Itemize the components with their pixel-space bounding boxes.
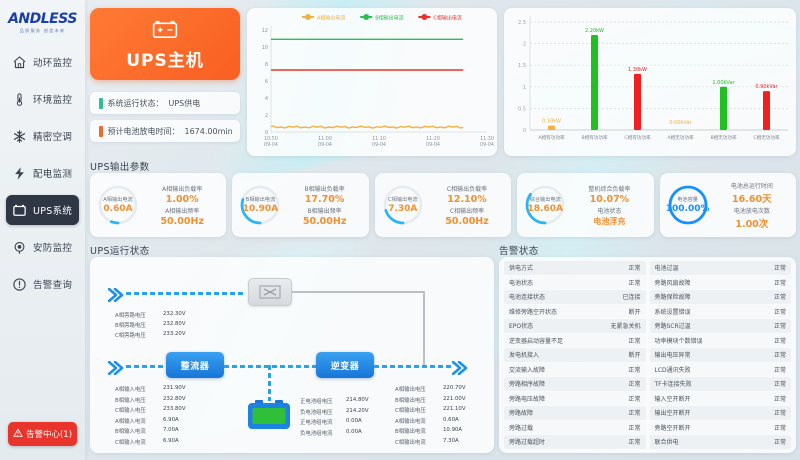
- input-label: A相输入电流: [115, 417, 146, 425]
- alarm-row: 逆变器启动容量不足正常: [504, 334, 646, 348]
- gauge-value: 0.60A: [103, 204, 132, 214]
- battery-label: 正电池组电流: [300, 418, 332, 426]
- discharge-color-bar: [99, 126, 103, 137]
- brand-tagline: 品质服务 创造未来: [20, 28, 66, 34]
- output-parameters-title: UPS输出参数: [90, 159, 796, 173]
- alarm-value: 已连接: [622, 292, 640, 301]
- alarm-name: 旁路过载超时: [509, 437, 628, 446]
- battery-value: 214.20V: [346, 408, 369, 414]
- alarm-column-left: 供电方式正常电池状态正常电池连接状态已连接维修旁路空开状态断开EPO状态无紧急关…: [504, 261, 646, 449]
- svg-text:11:10: 11:10: [372, 136, 386, 142]
- alarm-name: 交流输入故障: [509, 365, 628, 374]
- alarm-value: 断开: [628, 350, 640, 359]
- thermometer-icon: [12, 92, 27, 107]
- brand-logo: ANDLESS 品质服务 创造未来: [0, 0, 85, 40]
- alarm-name: 联合供电: [655, 437, 774, 446]
- ups-battery-icon: [152, 18, 178, 44]
- gauge-value: 10.90A: [243, 204, 278, 214]
- gauge-value: 7.30A: [388, 204, 417, 214]
- alarm-name: 旁路保险故障: [655, 292, 774, 301]
- alarm-value: 正常: [774, 307, 786, 316]
- alarm-name: 功率模块个数错误: [655, 336, 774, 345]
- svg-text:0.5: 0.5: [518, 106, 526, 112]
- run-status-section: UPS运行状态 A相旁路电压232.30VB相旁路电压232.80VC相旁路电压…: [90, 243, 494, 453]
- bypass-value: 232.80V: [163, 321, 186, 327]
- battery-value: 214.80V: [346, 397, 369, 403]
- alarm-row: 旁路SCR过温正常: [650, 319, 792, 333]
- alarm-value: 无紧急关机: [610, 321, 640, 330]
- bypass-label: C相旁路电压: [115, 331, 146, 339]
- battery-label: 负电池组电流: [300, 429, 332, 437]
- gauge-value: 100.00%: [666, 204, 710, 214]
- alarm-row: 联合供电正常: [650, 435, 792, 449]
- alarm-status-title: 告警状态: [499, 243, 796, 257]
- alarm-row: 供电方式正常: [504, 261, 646, 275]
- sidebar-item-2[interactable]: 环境监控: [6, 84, 79, 114]
- sidebar: ANDLESS 品质服务 创造未来 动环监控环境监控精密空调配电监测UPS系统安…: [0, 0, 85, 460]
- alarm-value: 正常: [774, 423, 786, 432]
- alarm-value: 正常: [774, 263, 786, 272]
- alarm-name: 输出电压异常: [655, 350, 774, 359]
- svg-text:09-04: 09-04: [318, 142, 332, 148]
- snowflake-icon: [12, 129, 27, 144]
- alarm-row: 电池连接状态已连接: [504, 290, 646, 304]
- run-status-diagram: A相旁路电压232.30VB相旁路电压232.80VC相旁路电压233.20V整…: [90, 257, 494, 453]
- battery-label: 负电池组电压: [300, 408, 332, 416]
- output-label: B相输出电压: [395, 396, 426, 404]
- metric-label: A相输出负载率: [162, 184, 202, 193]
- alarm-row: 旁路电压故障正常: [504, 392, 646, 406]
- metric-label: 整机综合负载率: [588, 184, 630, 193]
- output-value: 220.70V: [443, 385, 466, 391]
- svg-text:1.5: 1.5: [518, 63, 526, 69]
- alarm-value: 正常: [774, 394, 786, 403]
- alarm-name: 供电方式: [509, 263, 628, 272]
- svg-text:0: 0: [523, 128, 526, 134]
- card-values: 电池总运行时间16.60天电池放电次数1.00次: [714, 181, 790, 230]
- svg-text:C相无功功率: C相无功功率: [753, 134, 780, 141]
- bypass-value: 233.20V: [163, 331, 186, 337]
- sidebar-item-label: 环境监控: [33, 92, 72, 106]
- svg-text:1: 1: [523, 85, 526, 91]
- alarm-name: LCD通讯失败: [655, 365, 774, 374]
- alarm-center-label: 告警中心(1): [26, 428, 72, 440]
- power-bar-chart: 00.511.522.50.10kWA相有功功率2.20kWB相有功功率1.30…: [504, 8, 796, 156]
- system-status-value: UPS供电: [169, 98, 201, 109]
- alarm-name: 系统设置错误: [655, 307, 774, 316]
- alarm-name: 旁路空开断开: [655, 423, 774, 432]
- output-value: 10.90A: [443, 427, 462, 433]
- output-label: A相输出电流: [395, 417, 426, 425]
- alarm-value: 正常: [774, 278, 786, 287]
- svg-text:6: 6: [265, 79, 268, 85]
- alarm-row: 旁路保险故障正常: [650, 290, 792, 304]
- bypass-switch-icon: [248, 278, 292, 306]
- warning-triangle-icon: [13, 428, 23, 441]
- brand-name: ANDLESS: [8, 12, 77, 26]
- svg-text:8: 8: [265, 62, 268, 68]
- svg-text:10: 10: [262, 45, 268, 51]
- svg-text:A相输出电流: A相输出电流: [317, 15, 345, 22]
- svg-text:09-04: 09-04: [264, 142, 278, 148]
- alarm-name: 电池状态: [509, 278, 628, 287]
- alarm-value: 正常: [628, 394, 640, 403]
- battery-icon: [12, 203, 27, 218]
- output-label: A相输出电压: [395, 385, 426, 393]
- alarm-row: 旁路空开断开正常: [650, 421, 792, 435]
- sidebar-item-label: 动环监控: [33, 55, 72, 69]
- metric-label: B相输出频率: [308, 206, 342, 215]
- output-value: 221.00V: [443, 396, 466, 402]
- alarm-row: 维修旁路空开状态断开: [504, 305, 646, 319]
- alarm-row: 旁路过载超时正常: [504, 435, 646, 449]
- alarm-value: 正常: [774, 350, 786, 359]
- alarm-value: 断开: [628, 307, 640, 316]
- alarm-row: 电池状态正常: [504, 276, 646, 290]
- svg-text:0.00kVar: 0.00kVar: [669, 120, 692, 126]
- alarm-name: 逆变器启动容量不足: [509, 336, 628, 345]
- alarm-value: 正常: [628, 278, 640, 287]
- sidebar-item-label: 配电监测: [33, 166, 72, 180]
- sidebar-item-1[interactable]: 动环监控: [6, 47, 79, 77]
- svg-text:11:30: 11:30: [480, 136, 494, 142]
- alarm-column-right: 电池过温正常旁路风扇故障正常旁路保险故障正常系统设置错误正常旁路SCR过温正常功…: [650, 261, 792, 449]
- bypass-gray-line-h: [292, 291, 425, 293]
- svg-text:A相无功功率: A相无功功率: [667, 134, 694, 141]
- metric-value: 电池浮充: [593, 216, 625, 227]
- bypass-value: 232.30V: [163, 311, 186, 317]
- svg-text:B相有功功率: B相有功功率: [581, 134, 608, 141]
- alarm-name: 旁路过载: [509, 423, 628, 432]
- input-value: 6.90A: [163, 438, 179, 444]
- alarm-value: 正常: [774, 292, 786, 301]
- gauge-label: B相输出电流: [246, 196, 276, 203]
- input-value: 232.80V: [163, 396, 186, 402]
- output-value: 0.60A: [443, 417, 459, 423]
- alarm-value: 正常: [774, 365, 786, 374]
- inverter-block: 逆变器: [316, 352, 374, 378]
- metric-value: 50.00Hz: [303, 216, 347, 227]
- battery-discharge-label: 预计电池放电时间：: [108, 126, 180, 137]
- alarm-name: 维修旁路空开状态: [509, 307, 628, 316]
- alarm-name: 旁路SCR过温: [655, 321, 774, 330]
- status-color-bar: [99, 98, 103, 109]
- input-arrow: [108, 360, 124, 379]
- alarm-value: 正常: [628, 263, 640, 272]
- alarm-row: 旁路相序故障正常: [504, 377, 646, 391]
- alarm-name: 输出空开断开: [655, 408, 774, 417]
- output-card-2: B相输出电流10.90AB相输出负载率17.70%B相输出频率50.00Hz: [232, 173, 368, 237]
- metric-value: 16.60天: [732, 191, 772, 205]
- rectifier-block: 整流器: [166, 352, 224, 378]
- gauge-label: C相输出电流: [388, 196, 418, 203]
- battery-dotted-line: [268, 365, 271, 401]
- alarm-value: 正常: [628, 336, 640, 345]
- output-card-5: 电池容量100.00%电池总运行时间16.60天电池放电次数1.00次: [660, 173, 796, 237]
- system-status-pill: 系统运行状态： UPS供电: [90, 92, 240, 114]
- metric-value: 17.70%: [305, 194, 345, 205]
- output-label: B相输出电流: [395, 427, 426, 435]
- bypass-dotted-line: [126, 292, 246, 295]
- svg-text:09-04: 09-04: [372, 142, 386, 148]
- svg-text:2.5: 2.5: [518, 20, 526, 26]
- sidebar-item-label: 告警查询: [33, 277, 72, 291]
- svg-text:0: 0: [265, 130, 268, 136]
- svg-text:10:50: 10:50: [264, 136, 278, 142]
- output-label: C相输出电压: [395, 406, 426, 414]
- metric-label: C相输出频率: [450, 206, 484, 215]
- alert-circle-icon: [12, 277, 27, 292]
- gauge-ring: A相输出电流0.60A: [96, 183, 140, 227]
- output-arrow: [452, 360, 468, 379]
- alarm-row: 输出电压异常正常: [650, 348, 792, 362]
- input-value: 233.80V: [163, 406, 186, 412]
- run-status-title: UPS运行状态: [90, 243, 494, 257]
- metric-value: 10.07%: [590, 194, 630, 205]
- svg-text:C相有功功率: C相有功功率: [624, 134, 651, 141]
- sidebar-item-6[interactable]: 安防监控: [6, 232, 79, 262]
- svg-text:1.30kW: 1.30kW: [628, 67, 647, 73]
- sidebar-item-label: 安防监控: [33, 240, 72, 254]
- card-values: B相输出负载率17.70%B相输出频率50.00Hz: [286, 184, 362, 227]
- card-values: A相输出负载率1.00%A相输出频率50.00Hz: [144, 184, 220, 227]
- svg-text:09-04: 09-04: [480, 142, 494, 148]
- svg-text:11:00: 11:00: [318, 136, 332, 142]
- gauge-label: A相输出电流: [103, 196, 133, 203]
- svg-text:0.90kVar: 0.90kVar: [755, 84, 778, 90]
- svg-text:2: 2: [523, 42, 526, 48]
- battery-discharge-value: 1674.00min: [185, 127, 233, 136]
- input-label: B相输入电流: [115, 427, 146, 435]
- sidebar-item-5[interactable]: UPS系统: [6, 195, 79, 225]
- sidebar-item-4[interactable]: 配电监测: [6, 158, 79, 188]
- alarm-name: 发电机接入: [509, 350, 628, 359]
- svg-text:B相无功功率: B相无功功率: [710, 134, 737, 141]
- output-parameters-section: UPS输出参数 A相输出电流0.60AA相输出负载率1.00%A相输出频率50.…: [90, 159, 796, 237]
- home-icon: [12, 55, 27, 70]
- sidebar-item-3[interactable]: 精密空调: [6, 121, 79, 151]
- alarm-name: 电池过温: [655, 263, 774, 272]
- input-label: C相输入电压: [115, 406, 146, 414]
- battery-value: 0.00A: [346, 418, 362, 424]
- card-values: C相输出负载率12.10%C相输出频率50.00Hz: [429, 184, 505, 227]
- output-label: C相输出电流: [395, 438, 426, 446]
- alarm-name: 电池连接状态: [509, 292, 622, 301]
- ups-host-tile[interactable]: UPS主机: [90, 8, 240, 80]
- input-value: 231.90V: [163, 385, 186, 391]
- svg-text:2.20kW: 2.20kW: [585, 28, 604, 34]
- alarm-value: 正常: [774, 336, 786, 345]
- metric-label: 电池放电次数: [734, 206, 770, 215]
- gauge-ring: 综合输出电流18.60A: [523, 183, 567, 227]
- bypass-input-arrow: [108, 287, 124, 306]
- bypass-gray-line-v: [423, 291, 425, 366]
- output-parameter-cards: A相输出电流0.60AA相输出负载率1.00%A相输出频率50.00HzB相输出…: [90, 173, 796, 237]
- metric-label: B相输出负载率: [305, 184, 345, 193]
- output-card-3: C相输出电流7.30AC相输出负载率12.10%C相输出频率50.00Hz: [375, 173, 511, 237]
- gauge-label: 综合输出电流: [530, 196, 561, 203]
- alarm-row: LCD通讯失败正常: [650, 363, 792, 377]
- input-value: 7.00A: [163, 427, 179, 433]
- input-dotted-line: [126, 365, 166, 368]
- input-label: A相输入电压: [115, 385, 146, 393]
- svg-text:1.00kVar: 1.00kVar: [712, 80, 735, 86]
- alarm-value: 正常: [774, 379, 786, 388]
- output-value: 221.10V: [443, 406, 466, 412]
- alarm-row: EPO状态无紧急关机: [504, 319, 646, 333]
- alarm-name: 输入空开断开: [655, 394, 774, 403]
- alarm-value: 正常: [774, 408, 786, 417]
- alarm-value: 正常: [628, 423, 640, 432]
- sidebar-item-label: UPS系统: [33, 203, 72, 217]
- metric-value: 1.00次: [735, 216, 768, 230]
- alarm-row: TF卡连接失败正常: [650, 377, 792, 391]
- metric-value: 12.10%: [447, 194, 487, 205]
- output-value: 7.30A: [443, 438, 459, 444]
- alarm-row: 旁路过载正常: [504, 421, 646, 435]
- svg-text:09-04: 09-04: [426, 142, 440, 148]
- alarm-name: EPO状态: [509, 321, 610, 330]
- gauge-label: 电池容量: [677, 196, 698, 203]
- alarm-value: 正常: [628, 408, 640, 417]
- input-label: B相输入电压: [115, 396, 146, 404]
- metric-value: 50.00Hz: [160, 216, 204, 227]
- gauge-ring: 电池容量100.00%: [666, 183, 710, 227]
- svg-text:C相输出电流: C相输出电流: [433, 15, 462, 22]
- alarm-value: 正常: [774, 321, 786, 330]
- alarm-value: 正常: [628, 365, 640, 374]
- output-dotted-line: [374, 365, 452, 368]
- alarm-name: 旁路相序故障: [509, 379, 628, 388]
- svg-text:11:20: 11:20: [426, 136, 440, 142]
- alarm-row: 电池过温正常: [650, 261, 792, 275]
- battery-discharge-pill: 预计电池放电时间： 1674.00min: [90, 120, 240, 142]
- bolt-icon: [12, 166, 27, 181]
- battery-value: 0.00A: [346, 429, 362, 435]
- battery-block-icon: [246, 399, 292, 431]
- alarm-name: 旁路故障: [509, 408, 628, 417]
- camera-icon: [12, 240, 27, 255]
- sidebar-item-label: 精密空调: [33, 129, 72, 143]
- main-content: UPS主机 系统运行状态： UPS供电 预计电池放电时间： 1674.00min…: [85, 0, 800, 460]
- svg-text:B相输出电流: B相输出电流: [375, 15, 403, 22]
- alarm-row: 功率模块个数错误正常: [650, 334, 792, 348]
- alarm-row: 系统设置错误正常: [650, 305, 792, 319]
- alarm-name: TF卡连接失败: [655, 379, 774, 388]
- alarm-value: 正常: [774, 437, 786, 446]
- svg-text:12: 12: [262, 28, 268, 34]
- input-value: 6.90A: [163, 417, 179, 423]
- output-current-line-chart: A相输出电流B相输出电流C相输出电流02468101210:5009-0411:…: [247, 8, 497, 156]
- metric-label: 电池状态: [597, 206, 621, 215]
- alarm-row: 输出空开断开正常: [650, 406, 792, 420]
- bypass-label: B相旁路电压: [115, 321, 146, 329]
- top-row: UPS主机 系统运行状态： UPS供电 预计电池放电时间： 1674.00min…: [90, 8, 796, 156]
- metric-label: A相输出频率: [165, 206, 199, 215]
- alarm-row: 输入空开断开正常: [650, 392, 792, 406]
- svg-text:0.10kW: 0.10kW: [542, 119, 561, 125]
- alarm-status-section: 告警状态 供电方式正常电池状态正常电池连接状态已连接维修旁路空开状态断开EPO状…: [499, 243, 796, 453]
- alarm-row: 旁路故障正常: [504, 406, 646, 420]
- svg-text:4: 4: [265, 96, 268, 102]
- alarm-name: 旁路风扇故障: [655, 278, 774, 287]
- alarm-row: 发电机接入断开: [504, 348, 646, 362]
- system-status-label: 系统运行状态：: [108, 98, 164, 109]
- metric-value: 50.00Hz: [445, 216, 489, 227]
- alarm-name: 旁路电压故障: [509, 394, 628, 403]
- alarm-row: 旁路风扇故障正常: [650, 276, 792, 290]
- gauge-value: 18.60A: [528, 204, 563, 214]
- alarm-row: 交流输入故障正常: [504, 363, 646, 377]
- gauge-ring: B相输出电流10.90A: [238, 183, 282, 227]
- sidebar-item-7[interactable]: 告警查询: [6, 269, 79, 299]
- metric-value: 1.00%: [166, 194, 199, 205]
- sidebar-nav: 动环监控环境监控精密空调配电监测UPS系统安防监控告警查询: [0, 47, 85, 299]
- svg-text:2: 2: [265, 113, 268, 119]
- alarm-center-button[interactable]: 告警中心(1): [8, 422, 77, 446]
- output-card-1: A相输出电流0.60AA相输出负载率1.00%A相输出频率50.00Hz: [90, 173, 226, 237]
- metric-label: C相输出负载率: [447, 184, 487, 193]
- ups-host-title: UPS主机: [126, 46, 204, 71]
- output-card-4: 综合输出电流18.60A整机综合负载率10.07%电池状态电池浮充: [517, 173, 653, 237]
- metric-label: 电池总运行时间: [731, 181, 773, 190]
- gauge-ring: C相输出电流7.30A: [381, 183, 425, 227]
- bypass-label: A相旁路电压: [115, 311, 146, 319]
- svg-text:A相有功功率: A相有功功率: [538, 134, 565, 141]
- card-values: 整机综合负载率10.07%电池状态电池浮充: [571, 184, 647, 227]
- alarm-value: 正常: [628, 379, 640, 388]
- input-label: C相输入电流: [115, 438, 146, 446]
- battery-label: 正电池组电压: [300, 397, 332, 405]
- alarm-status-table: 供电方式正常电池状态正常电池连接状态已连接维修旁路空开状态断开EPO状态无紧急关…: [499, 257, 796, 453]
- alarm-value: 正常: [628, 437, 640, 446]
